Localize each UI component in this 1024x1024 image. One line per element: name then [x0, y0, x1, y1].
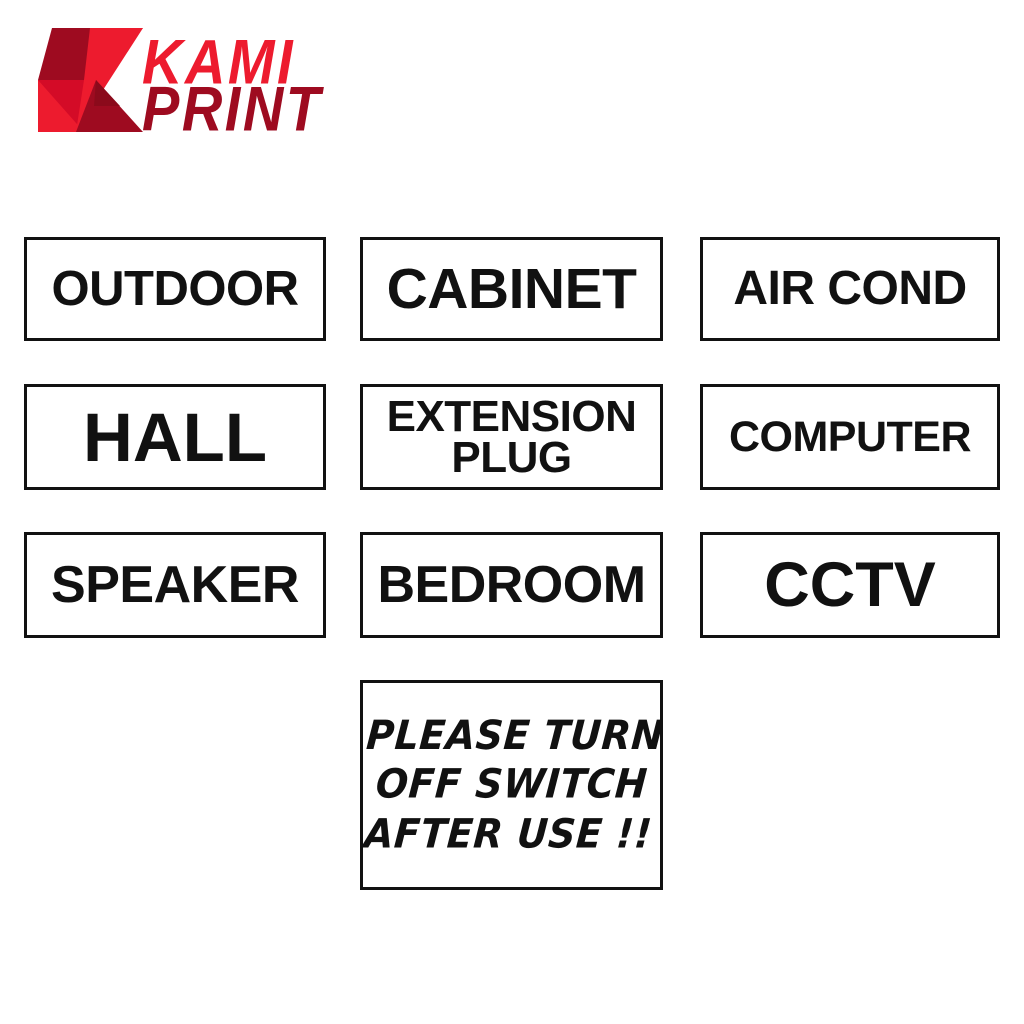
sign-label-cctv: CCTV [700, 532, 1000, 638]
sign-text-cctv: CCTV [764, 554, 936, 617]
sign-label-please-turn-off-switch: PLEASE TURN OFF SWITCH AFTER USE !! [360, 680, 663, 890]
sign-label-air-cond: AIR COND [700, 237, 1000, 341]
sign-text-cabinet: CABINET [387, 261, 637, 318]
sign-text-air-cond: AIR COND [733, 265, 966, 313]
sign-text-extension-line-1: EXTENSION [387, 396, 637, 437]
sign-label-extension-plug: EXTENSION PLUG [360, 384, 663, 490]
brand-logo: KAMI PRINT [38, 22, 368, 137]
brand-wordmark-line-print: PRINT [142, 78, 323, 141]
sign-text-speaker: SPEAKER [51, 559, 299, 611]
sign-label-computer: COMPUTER [700, 384, 1000, 490]
sign-text-notice: PLEASE TURN OFF SWITCH AFTER USE !! [360, 711, 663, 858]
sign-text-notice-line-1: PLEASE TURN [365, 711, 663, 760]
sign-text-extension-plug: EXTENSION PLUG [387, 396, 637, 479]
sign-label-cabinet: CABINET [360, 237, 663, 341]
sign-text-extension-line-2: PLUG [387, 437, 637, 478]
sign-label-bedroom: BEDROOM [360, 532, 663, 638]
sign-text-notice-line-2: OFF SWITCH [361, 760, 662, 809]
kami-print-k-mark-icon [38, 28, 143, 132]
sign-text-outdoor: OUTDOOR [52, 265, 299, 314]
sign-text-bedroom: BEDROOM [377, 559, 645, 611]
sign-text-computer: COMPUTER [729, 416, 971, 459]
sign-text-hall: HALL [83, 403, 267, 472]
sign-label-hall: HALL [24, 384, 326, 490]
sign-text-notice-line-3: AFTER USE !! [360, 810, 658, 859]
product-mockup-canvas: KAMI PRINT OUTDOOR CABINET AIR COND HALL… [0, 0, 1024, 1024]
sign-label-speaker: SPEAKER [24, 532, 326, 638]
sign-label-outdoor: OUTDOOR [24, 237, 326, 341]
brand-wordmark: KAMI PRINT [142, 22, 368, 137]
